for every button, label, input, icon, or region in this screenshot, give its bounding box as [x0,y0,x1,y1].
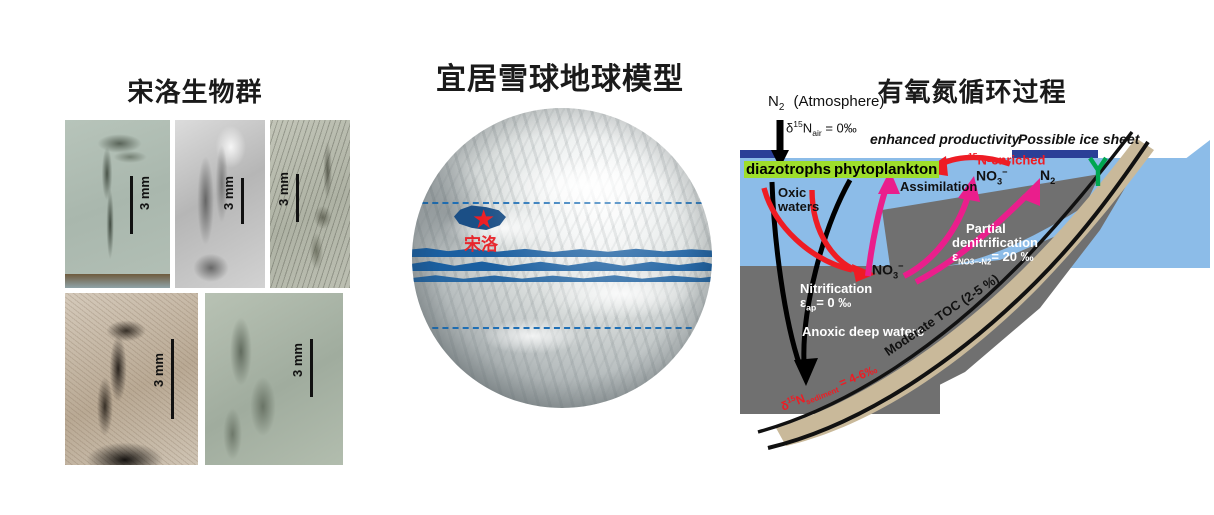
delta15n-air-label: δ15Nair = 0‰ [786,120,857,138]
n15-enriched-label: 15N-enriched [968,152,1045,167]
enhanced-productivity-label: enhanced productivity [870,132,1019,147]
fossil-texture [65,293,198,465]
diazotrophs-label: diazotrophs [744,162,833,178]
snowball-earth-globe: ★ 宋洛 [412,108,712,408]
globe-shading [412,108,712,408]
fossil-specimen-3: 3 mm [270,120,350,288]
nitrification-label: Nitrification εap= 0 ‰ [800,282,872,313]
fossil-texture [175,120,265,288]
globe-panel-title: 宜居雪球地球模型 [390,54,730,98]
scale-bar-label: 3 mm [137,176,152,210]
possible-ice-sheet-label: Possible ice sheet [1018,132,1139,147]
scale-bar-label: 3 mm [290,343,305,377]
scale-bar [241,178,244,224]
fossil-specimen-2: 3 mm [175,120,265,288]
n2-right-label: N2 [1040,168,1055,187]
scale-bar-label: 3 mm [151,353,166,387]
fossil-edge [65,274,170,288]
fossil-texture [205,293,343,465]
oxic-waters-label: Oxic waters [778,186,819,214]
fossils-panel: 宋洛生物群 3 mm 3 mm 3 mm 3 mm 3 mm [0,0,390,515]
nitrogen-cycle-panel: 有氧氮循环过程 [730,0,1214,515]
assimilation-label: Assimilation [900,180,977,194]
fossil-texture [65,120,170,288]
partial-denitrification-label: Partial denitrification εNO3−-N2= 20 ‰ [952,222,1038,267]
fossil-specimen-1: 3 mm [65,120,170,288]
scale-bar [310,339,313,397]
scale-bar-label: 3 mm [276,172,291,206]
scale-bar [130,176,133,234]
fossils-panel-title: 宋洛生物群 [0,72,390,109]
scale-bar [171,339,174,419]
nitrate-top-label: NO3− [976,168,1008,187]
nitrogen-cycle-diagram: N2 (Atmosphere) δ15Nair = 0‰ enhanced pr… [740,110,1210,460]
fossil-specimen-5: 3 mm [205,293,343,465]
globe-panel: 宜居雪球地球模型 ★ 宋洛 [390,0,730,515]
nitrate-mid-label: NO3− [872,262,904,281]
n2-atmosphere-label: N2 (Atmosphere) [768,94,884,114]
fossil-specimen-4: 3 mm [65,293,198,465]
phytoplankton-label: phytoplankton [832,162,939,178]
scale-bar [296,174,299,222]
scale-bar-label: 3 mm [221,176,236,210]
